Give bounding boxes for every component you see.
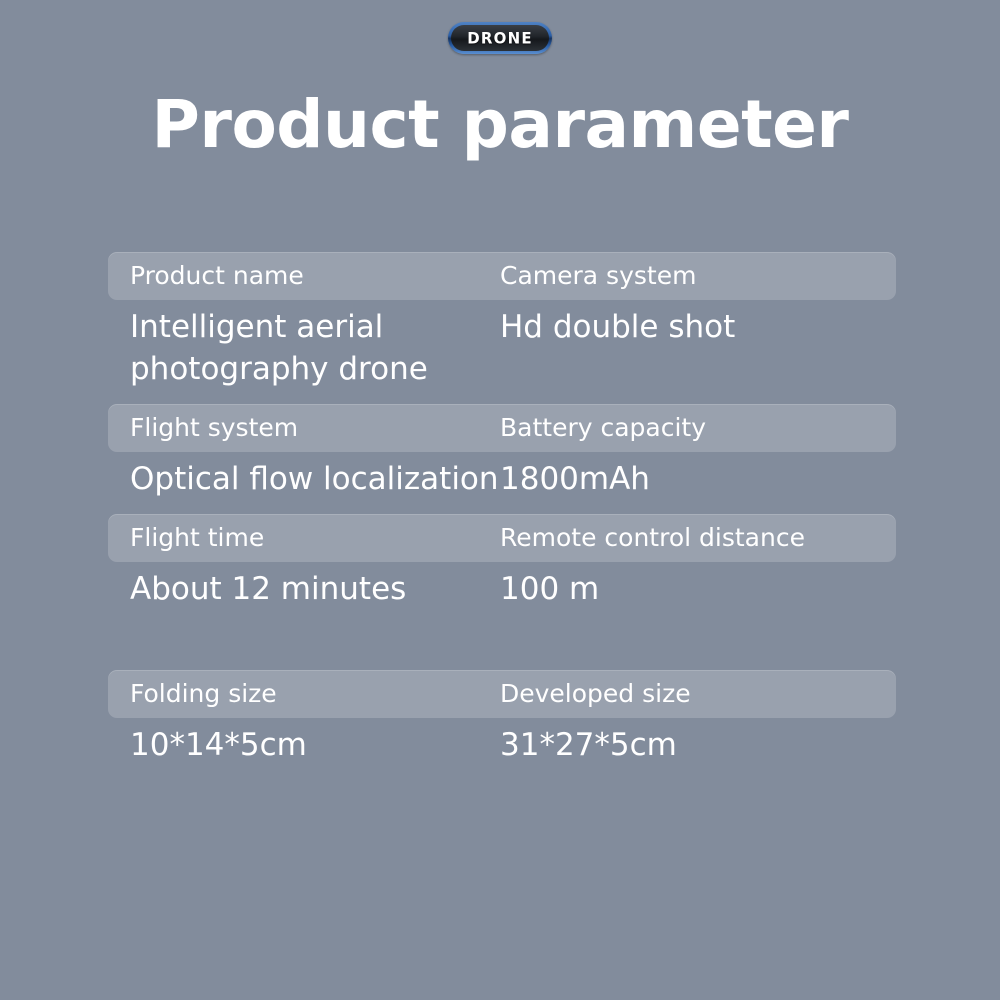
spec-value: 1800mAh	[500, 461, 650, 497]
drone-badge-inner: DRONE	[451, 25, 549, 51]
spec-group: Product name Camera system Intelligent a…	[108, 252, 896, 390]
spec-header-label: Flight time	[130, 523, 264, 552]
spec-header-label: Battery capacity	[500, 413, 706, 442]
spec-header-label: Camera system	[500, 261, 696, 290]
brand-logo: DRONE	[0, 22, 1000, 54]
spec-header-label: Developed size	[500, 679, 691, 708]
spec-group: Flight system Battery capacity Optical f…	[108, 404, 896, 500]
spec-value: 10*14*5cm	[130, 727, 307, 763]
spec-value-row: 10*14*5cm 31*27*5cm	[108, 718, 896, 766]
spec-value: Hd double shot	[500, 309, 735, 345]
spec-value: Intelligent aerial photography drone	[130, 309, 428, 387]
spec-value: 100 m	[500, 571, 599, 607]
spec-table: Product name Camera system Intelligent a…	[108, 252, 896, 780]
spec-header-bar: Product name Camera system	[108, 252, 896, 300]
spec-group: Folding size Developed size 10*14*5cm 31…	[108, 670, 896, 766]
spec-value-row: About 12 minutes 100 m	[108, 562, 896, 610]
page-title: Product parameter	[0, 86, 1000, 164]
spec-header-label: Remote control distance	[500, 523, 805, 552]
spec-value: Optical flow localization	[130, 461, 499, 497]
spec-value: 31*27*5cm	[500, 727, 677, 763]
drone-badge-icon: DRONE	[448, 22, 552, 54]
spec-value: About 12 minutes	[130, 571, 406, 607]
spec-value-row: Optical flow localization 1800mAh	[108, 452, 896, 500]
spec-value-row: Intelligent aerial photography drone Hd …	[108, 300, 896, 390]
spec-header-bar: Folding size Developed size	[108, 670, 896, 718]
spec-header-label: Product name	[130, 261, 304, 290]
spec-header-bar: Flight system Battery capacity	[108, 404, 896, 452]
spec-header-label: Flight system	[130, 413, 298, 442]
spec-header-bar: Flight time Remote control distance	[108, 514, 896, 562]
spec-header-label: Folding size	[130, 679, 277, 708]
brand-logo-text: DRONE	[467, 30, 533, 46]
spec-group: Flight time Remote control distance Abou…	[108, 514, 896, 610]
